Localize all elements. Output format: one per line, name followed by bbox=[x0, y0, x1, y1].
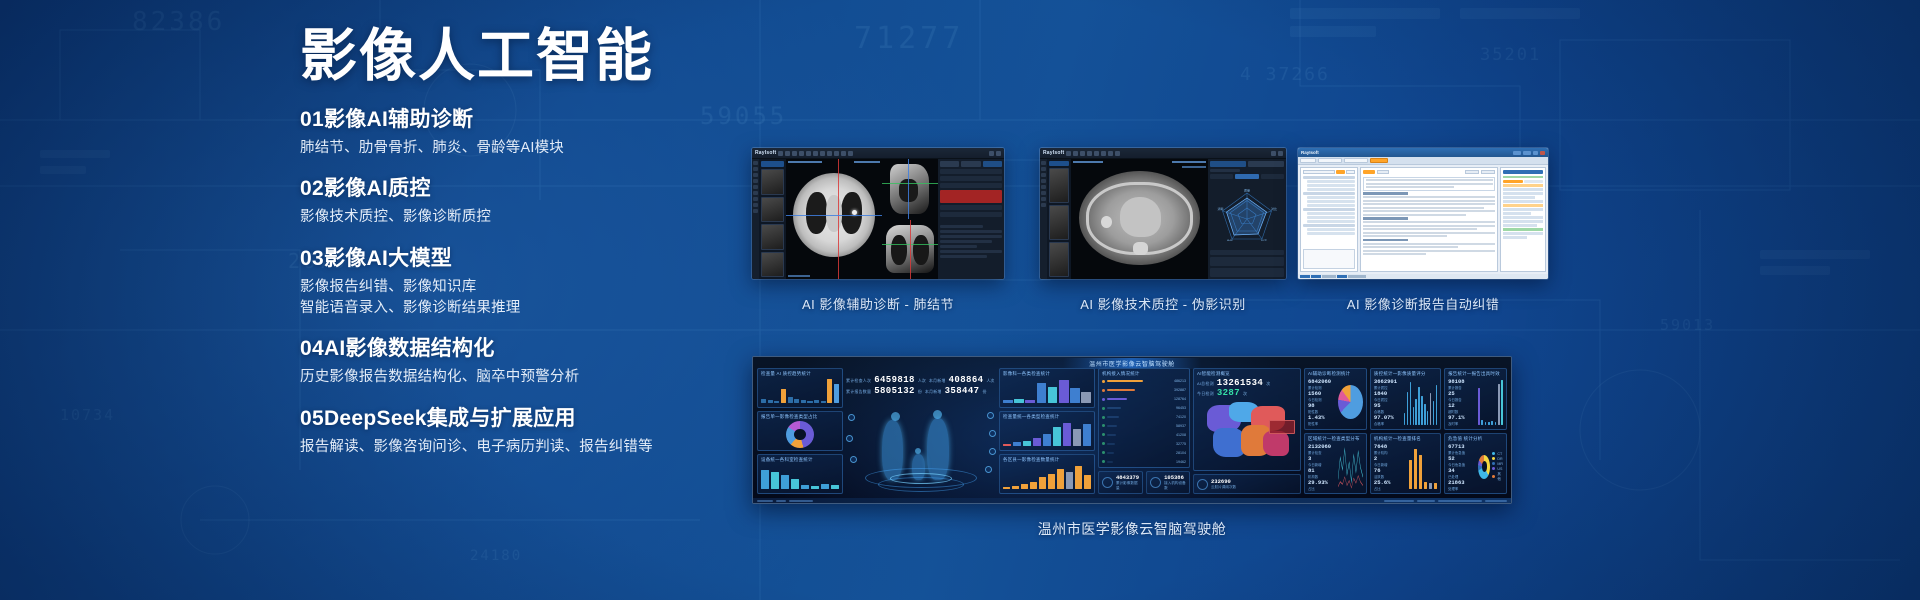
toolbar-icon-annotate[interactable] bbox=[1101, 151, 1106, 156]
bar-chart-report-timeliness bbox=[1478, 378, 1503, 427]
dashboard-column-3: 影像科一各类检查统计 检查量统一各类型检查统计 bbox=[999, 368, 1095, 494]
screenshot-caption-3: AI 影像诊断报告自动纠错 bbox=[1298, 294, 1548, 313]
kpi-label-total-reports: 累计报告数量 bbox=[846, 389, 871, 395]
rail-icon-ruler bbox=[753, 173, 758, 177]
qc-filter-selected[interactable] bbox=[1235, 174, 1258, 179]
screenshot-report-auto-correction[interactable]: RayIsoft bbox=[1298, 148, 1548, 279]
page-title: 影像人工智能 bbox=[300, 28, 720, 85]
toolbar-icon-settings[interactable] bbox=[1271, 151, 1276, 156]
series-tab-active[interactable] bbox=[1049, 161, 1069, 166]
findings-report-button[interactable] bbox=[983, 161, 1002, 167]
dashboard-caption: 温州市医学影像云智脑驾驶舱 bbox=[752, 519, 1512, 539]
kpi-value-total-reports: 5805132 bbox=[874, 386, 915, 396]
finding-row[interactable] bbox=[940, 176, 1002, 181]
qc-radar-chart: 质量对比 噪声伪影清晰 bbox=[1210, 181, 1284, 248]
list-item: 96453 bbox=[1102, 405, 1186, 412]
axial-ct-view[interactable] bbox=[786, 159, 882, 279]
list-item: 128764 bbox=[1102, 396, 1186, 403]
feature-title-04: 04AI影像数据结构化 bbox=[300, 336, 720, 363]
app-brand-label: RayIsoft bbox=[1043, 150, 1064, 156]
card-critical-value-analysis[interactable]: 危急值 统计分析 67713累计危急值 52今日危急值 34已处理 21863处… bbox=[1444, 433, 1507, 495]
ct-axial-slice bbox=[1079, 171, 1200, 265]
toolbar-icon-close[interactable] bbox=[1278, 151, 1283, 156]
kpi-column: 67713累计危急值 52今日危急值 34已处理 21863处理率 bbox=[1448, 443, 1478, 492]
rail-icon-more bbox=[1041, 203, 1046, 207]
kpi-column: 98108累计报告 25今日报告 12超时数 97.1%及时率 bbox=[1448, 378, 1478, 427]
feature-item-02: 02影像AI质控 影像技术质控、影像诊断质控 bbox=[300, 176, 720, 228]
mini-stat-row: 4843379 累计影像数据量 105386 接入机构设备数 bbox=[1098, 471, 1190, 494]
series-thumbnail[interactable] bbox=[1049, 242, 1069, 277]
bar-chart-department bbox=[761, 464, 839, 491]
device-icon bbox=[1150, 477, 1161, 488]
holo-icon-bone[interactable] bbox=[850, 456, 857, 463]
finding-detail-line bbox=[940, 250, 1002, 253]
dashboard-footer bbox=[753, 498, 1511, 503]
dashboard-column-legend: 机构接入情况统计 486213 392887 bbox=[1098, 368, 1190, 494]
toolbar-icon-cursor[interactable] bbox=[1066, 151, 1071, 156]
rail-icon-layer bbox=[1041, 167, 1046, 171]
screenshot-ai-quality-control[interactable]: RayIsoft bbox=[1040, 148, 1286, 279]
finding-row[interactable] bbox=[940, 212, 1002, 217]
list-item: 28104 bbox=[1102, 450, 1186, 457]
lung-icon bbox=[1102, 477, 1113, 488]
series-thumbnail-list[interactable] bbox=[759, 159, 786, 279]
sagittal-ct-view[interactable] bbox=[882, 159, 938, 219]
app-brand-label: RayIsoft bbox=[755, 150, 776, 156]
card-title: 质控统计一影像质量评分 bbox=[1374, 371, 1437, 377]
findings-table-header bbox=[940, 169, 1002, 174]
card-ai-diagnosis-stats[interactable]: AI辅助诊断检测统计 6842060累计检测 1560今日检测 98阳性数 1.… bbox=[1304, 368, 1367, 430]
map-tooltip bbox=[1269, 420, 1295, 434]
toolbar-icon-invert[interactable] bbox=[827, 151, 832, 156]
line-chart-region bbox=[1338, 443, 1363, 492]
bar-chart-qc-score bbox=[1404, 378, 1437, 427]
findings-filter-button[interactable] bbox=[940, 161, 959, 167]
qc-filter-all[interactable] bbox=[1210, 174, 1233, 179]
hologram-family-visualization bbox=[846, 399, 996, 494]
kpi-column: 6842060累计检测 1560今日检测 98阳性数 1.43%阳性率 bbox=[1308, 378, 1338, 427]
report-tab[interactable] bbox=[1344, 158, 1368, 163]
feature-item-04: 04AI影像数据结构化 历史影像报告数据结构化、脑卒中预警分析 bbox=[300, 336, 720, 388]
kpi-value-month-exams: 408864 bbox=[949, 375, 984, 385]
card-region-exam-distribution[interactable]: 区域统计一检查类型分布 2132060累计检查 3今日新增 81机构数 29.9… bbox=[1304, 433, 1367, 495]
legend-entry: MR bbox=[1492, 462, 1503, 466]
finding-row[interactable] bbox=[940, 205, 1002, 210]
kpi-column: 2132060累计检查 3今日新增 81机构数 29.93%占比 bbox=[1308, 443, 1338, 492]
card-district-exam-count[interactable]: 各区县一影像检查数量统计 bbox=[999, 454, 1095, 494]
holo-icon-brain[interactable] bbox=[846, 435, 853, 442]
feature-desc-05: 报告解读、影像咨询问诊、电子病历判读、报告纠错等 bbox=[300, 437, 720, 458]
toolbar-icon-export[interactable] bbox=[1115, 151, 1120, 156]
kpi-column: 3662901累计质控 1840今日质控 95合格数 97.07%合格率 bbox=[1374, 378, 1404, 427]
card-report-timeliness[interactable]: 报告统计一报告出具时效 98108累计报告 25今日报告 12超时数 97.1%… bbox=[1444, 368, 1507, 430]
card-title: AI辅助诊断检测统计 bbox=[1308, 371, 1363, 377]
list-item: 74120 bbox=[1102, 414, 1186, 421]
rail-icon-layer bbox=[753, 167, 758, 171]
kpi-block: 检查量 AI 质控趋势统计 累计检查人次 6459818 人次 本月新增 408… bbox=[846, 368, 996, 396]
pie-chart-ai-diagnosis bbox=[1338, 385, 1363, 419]
toolbar-icon-export[interactable] bbox=[848, 151, 853, 156]
editor-button-save[interactable] bbox=[1377, 170, 1389, 174]
donut-chart-exam-type bbox=[786, 421, 814, 448]
feature-desc-01: 肺结节、肋骨骨折、肺炎、骨龄等AI模块 bbox=[300, 138, 720, 159]
holo-icon-liver[interactable] bbox=[989, 430, 996, 437]
kpi-label-month-reports: 本月新增 bbox=[925, 389, 942, 395]
editor-button-correct[interactable] bbox=[1363, 170, 1375, 174]
qc-tab-score[interactable] bbox=[1248, 161, 1284, 167]
feature-desc-03-line1: 影像报告纠错、影像知识库 bbox=[300, 277, 720, 298]
list-item: 32775 bbox=[1102, 441, 1186, 448]
screenshot-medical-imaging-cloud-cockpit[interactable]: 温州市医学影像云智脑驾驶舱 检查量 AI 质控趋势统计 bbox=[752, 356, 1512, 504]
report-tab-active[interactable] bbox=[1370, 158, 1388, 163]
finding-detail-line bbox=[940, 235, 1002, 238]
bar-chart-qc-trend bbox=[761, 378, 839, 405]
card-qc-trend[interactable]: 检查量 AI 质控趋势统计 bbox=[757, 368, 843, 408]
coronal-ct-view[interactable] bbox=[882, 220, 938, 280]
legend-entry: 其他 bbox=[1492, 472, 1503, 482]
rail-icon-print bbox=[753, 191, 758, 195]
toolbar-icon-rotate[interactable] bbox=[820, 151, 825, 156]
ai-correction-suggestion-panel[interactable] bbox=[1500, 167, 1546, 272]
report-tab-strip[interactable] bbox=[1298, 157, 1548, 165]
kpi-value-month-reports: 358447 bbox=[945, 386, 980, 396]
ai-today-label: 今日检测 bbox=[1197, 391, 1214, 397]
rail-icon-more bbox=[753, 209, 758, 213]
list-item: 19462 bbox=[1102, 458, 1186, 465]
svg-text:59013: 59013 bbox=[1660, 316, 1715, 334]
card-title: 危急值 统计分析 bbox=[1448, 436, 1503, 442]
svg-text:4 37266: 4 37266 bbox=[1240, 64, 1330, 85]
card-imaging-dept-exams[interactable]: 影像科一各类检查统计 bbox=[999, 368, 1095, 408]
rail-icon-mark bbox=[1041, 179, 1046, 183]
kpi-label-total-exams: 累计检查人次 bbox=[846, 378, 871, 384]
card-department-exam[interactable]: 设备统一各科室检查统计 bbox=[757, 454, 843, 494]
list-item: 58937 bbox=[1102, 423, 1186, 430]
rail-icon-series bbox=[1041, 161, 1046, 165]
holo-icon-lung[interactable] bbox=[848, 414, 855, 421]
card-title: 设备统一各科室检查统计 bbox=[761, 457, 839, 463]
screenshot-ai-assisted-diagnosis[interactable]: RayIsoft bbox=[752, 148, 1004, 279]
card-ai-detection-map[interactable]: AI智能检测概览 AI总检测 13261534 次 今日检测 3287 次 bbox=[1193, 368, 1301, 471]
toolbar-icon-3d[interactable] bbox=[841, 151, 846, 156]
series-thumbnail[interactable] bbox=[1049, 168, 1069, 203]
qc-result-row[interactable] bbox=[1210, 257, 1284, 266]
titlebar-icon-minimize[interactable] bbox=[1533, 151, 1538, 155]
ai-total-label: AI总检测 bbox=[1197, 381, 1214, 387]
screenshot-caption-2: AI 影像技术质控 - 伪影识别 bbox=[1040, 294, 1286, 313]
qc-result-row[interactable] bbox=[1210, 250, 1284, 255]
series-tab-active[interactable] bbox=[761, 161, 784, 167]
series-thumbnail[interactable] bbox=[761, 224, 784, 250]
legend-entry: DR bbox=[1492, 457, 1503, 461]
rail-icon-mark bbox=[753, 179, 758, 183]
patient-info-block bbox=[1363, 177, 1495, 191]
toolbar-icon-zoom[interactable] bbox=[1080, 151, 1085, 156]
qc-analysis-panel[interactable]: 质量对比 噪声伪影清晰 bbox=[1208, 159, 1286, 279]
findings-sort-button[interactable] bbox=[961, 161, 980, 167]
editor-button-export[interactable] bbox=[1481, 170, 1495, 174]
feature-desc-03-line2: 智能语音录入、影像诊断结果推理 bbox=[300, 298, 720, 319]
suggestion-ignore-button[interactable] bbox=[1524, 180, 1544, 183]
finding-row-highlighted[interactable] bbox=[940, 190, 1002, 203]
card-title: 机构统计一检查量排名 bbox=[1374, 436, 1437, 442]
ai-total-value: 13261534 bbox=[1217, 378, 1263, 388]
region-map-wenzhou[interactable] bbox=[1197, 399, 1297, 468]
svg-text:35201: 35201 bbox=[1480, 45, 1541, 65]
viewer-left-rail[interactable] bbox=[752, 159, 759, 279]
rail-icon-ai bbox=[753, 185, 758, 189]
qc-filter-other[interactable] bbox=[1261, 174, 1284, 179]
svg-text:清晰: 清晰 bbox=[1217, 206, 1223, 211]
report-template-tree[interactable] bbox=[1300, 167, 1358, 272]
series-thumbnail-list[interactable] bbox=[1047, 159, 1071, 279]
qc-result-row[interactable] bbox=[1210, 268, 1284, 277]
viewer-toolbar[interactable]: RayIsoft bbox=[752, 148, 1004, 159]
bar-chart-imaging-dept bbox=[1003, 378, 1091, 405]
card-title: 机构接入情况统计 bbox=[1102, 371, 1186, 377]
toolbar-icon-window[interactable] bbox=[1087, 151, 1092, 156]
card-institution-access[interactable]: 机构接入情况统计 486213 392887 bbox=[1098, 368, 1190, 468]
toolbar-icon-settings[interactable] bbox=[989, 151, 994, 156]
svg-text:质量: 质量 bbox=[1244, 189, 1250, 193]
card-title: 报告单一影像检查类型占比 bbox=[761, 414, 839, 420]
finding-detail-line bbox=[940, 240, 992, 243]
legend-entry: US bbox=[1492, 467, 1503, 471]
series-thumbnail[interactable] bbox=[761, 197, 784, 223]
mini-stat[interactable]: 105386 接入机构设备数 bbox=[1146, 471, 1190, 494]
bar-line-chart-district bbox=[1003, 464, 1091, 491]
report-tab[interactable] bbox=[1300, 158, 1316, 163]
legend-entry: CT bbox=[1492, 452, 1503, 456]
card-title: AI智能检测概览 bbox=[1197, 371, 1297, 377]
toolbar-icon-window[interactable] bbox=[799, 151, 804, 156]
svg-text:82386: 82386 bbox=[132, 7, 225, 37]
toolbar-icon-pan[interactable] bbox=[785, 151, 790, 156]
holo-icon-breast[interactable] bbox=[985, 466, 992, 473]
screenshot-caption-1: AI 影像辅助诊断 - 肺结节 bbox=[752, 294, 1004, 313]
bar-chart-exam-type bbox=[1003, 421, 1091, 448]
card-title: 检查量 AI 质控趋势统计 bbox=[761, 371, 839, 377]
cloud-film-icon bbox=[1197, 479, 1208, 490]
toolbar-icon-pan[interactable] bbox=[1073, 151, 1078, 156]
card-qc-score[interactable]: 质控统计一影像质量评分 3662901累计质控 1840今日质控 95合格数 9… bbox=[1370, 368, 1441, 430]
feature-list-column: 影像人工智能 01影像AI辅助诊断 肺结节、肋骨骨折、肺炎、骨龄等AI模块 02… bbox=[300, 28, 720, 475]
rail-icon-save bbox=[1041, 197, 1046, 201]
series-thumbnail[interactable] bbox=[761, 252, 784, 278]
finding-detail-line bbox=[940, 225, 983, 228]
list-item: 41208 bbox=[1102, 432, 1186, 439]
card-title: 区域统计一检查类型分布 bbox=[1308, 436, 1363, 442]
editor-button-print[interactable] bbox=[1465, 170, 1479, 174]
rail-icon-info bbox=[1041, 191, 1046, 195]
card-exam-type-stats[interactable]: 检查量统一各类型检查统计 bbox=[999, 411, 1095, 451]
feature-item-03: 03影像AI大模型 影像报告纠错、影像知识库 智能语音录入、影像诊断结果推理 bbox=[300, 246, 720, 320]
toolbar-icon-close[interactable] bbox=[996, 151, 1001, 156]
suggestion-panel-header bbox=[1503, 170, 1543, 174]
finding-row[interactable] bbox=[940, 183, 1002, 188]
dashboard-column-center: 检查量 AI 质控趋势统计 累计检查人次 6459818 人次 本月新增 408… bbox=[846, 368, 996, 494]
list-item: 392887 bbox=[1102, 387, 1186, 394]
ai-today-value: 3287 bbox=[1217, 388, 1240, 398]
feature-title-05: 05DeepSeek集成与扩展应用 bbox=[300, 406, 720, 433]
toolbar-icon-measure[interactable] bbox=[1094, 151, 1099, 156]
card-institution-ranking[interactable]: 机构统计一检查量排名 7648累计机构 2今日新增 76活跃数 25.6%占比 bbox=[1370, 433, 1441, 495]
rail-icon-save bbox=[753, 203, 758, 207]
feature-title-01: 01影像AI辅助诊断 bbox=[300, 107, 720, 134]
holo-icon-heart[interactable] bbox=[987, 412, 994, 419]
report-document-editor[interactable] bbox=[1360, 167, 1498, 272]
bar-chart-institution bbox=[1404, 443, 1437, 492]
dashboard-column-right: AI辅助诊断检测统计 6842060累计检测 1560今日检测 98阳性数 1.… bbox=[1304, 368, 1507, 494]
toolbar-icon-measure[interactable] bbox=[806, 151, 811, 156]
legend-list: 486213 392887 128764 bbox=[1102, 378, 1186, 465]
toolbar-icon-layout[interactable] bbox=[834, 151, 839, 156]
feature-desc-04: 历史影像报告数据结构化、脑卒中预警分析 bbox=[300, 367, 720, 388]
card-title: 报告统计一报告出具时效 bbox=[1448, 371, 1503, 377]
rail-icon-series bbox=[753, 161, 758, 165]
toolbar-icon-layout[interactable] bbox=[1108, 151, 1113, 156]
finding-detail-line bbox=[940, 245, 977, 248]
qc-tab-artifact[interactable] bbox=[1210, 161, 1246, 167]
dashboard-column-left: 检查量 AI 质控趋势统计 报告单一影像检查类型占比 设备统一各科 bbox=[757, 368, 843, 494]
mini-stat[interactable]: 232690 云胶片调阅次数 bbox=[1193, 474, 1301, 494]
feature-desc-02: 影像技术质控、影像诊断质控 bbox=[300, 207, 720, 228]
rail-icon-ruler bbox=[1041, 173, 1046, 177]
titlebar-icon-settings[interactable] bbox=[1523, 151, 1531, 155]
card-title: 影像科一各类检查统计 bbox=[1003, 371, 1091, 377]
viewer-left-rail[interactable] bbox=[1040, 159, 1047, 279]
card-title: 各区县一影像检查数量统计 bbox=[1003, 457, 1091, 463]
dashboard-column-map: AI智能检测概览 AI总检测 13261534 次 今日检测 3287 次 bbox=[1193, 368, 1301, 494]
card-exam-type-ratio[interactable]: 报告单一影像检查类型占比 bbox=[757, 411, 843, 451]
titlebar-icon-user[interactable] bbox=[1513, 151, 1521, 155]
svg-text:对比: 对比 bbox=[1271, 206, 1277, 211]
mini-stat[interactable]: 4843379 累计影像数据量 bbox=[1098, 471, 1143, 494]
svg-text:71277: 71277 bbox=[854, 21, 964, 56]
donut-chart-critical-value bbox=[1478, 455, 1490, 479]
rail-icon-ai bbox=[1041, 185, 1046, 189]
feature-title-03: 03影像AI大模型 bbox=[300, 246, 720, 273]
finding-detail-line bbox=[940, 230, 1002, 233]
toolbar-icon-zoom[interactable] bbox=[792, 151, 797, 156]
report-tab[interactable] bbox=[1318, 158, 1342, 163]
suggestion-accept-button[interactable] bbox=[1503, 180, 1523, 183]
feature-title-02: 02影像AI质控 bbox=[300, 176, 720, 203]
report-app-titlebar[interactable]: RayIsoft bbox=[1298, 148, 1548, 157]
report-statusbar bbox=[1298, 274, 1548, 279]
app-brand-label: RayIsoft bbox=[1301, 150, 1319, 155]
ai-findings-panel[interactable] bbox=[938, 159, 1004, 279]
series-thumbnail[interactable] bbox=[761, 169, 784, 195]
kpi-value-total-exams: 6459818 bbox=[874, 375, 915, 385]
finding-detail-line bbox=[940, 255, 987, 258]
titlebar-icon-close[interactable] bbox=[1540, 151, 1545, 155]
axial-ct-view[interactable] bbox=[1071, 159, 1208, 279]
list-item: 486213 bbox=[1102, 378, 1186, 385]
kpi-column: 7648累计机构 2今日新增 76活跃数 25.6%占比 bbox=[1374, 443, 1404, 492]
feature-item-01: 01影像AI辅助诊断 肺结节、肋骨骨折、肺炎、骨龄等AI模块 bbox=[300, 107, 720, 159]
viewer-toolbar[interactable]: RayIsoft bbox=[1040, 148, 1286, 159]
mpr-views[interactable] bbox=[882, 159, 938, 279]
mini-stat-row-2: 232690 云胶片调阅次数 bbox=[1193, 474, 1301, 494]
series-thumbnail[interactable] bbox=[1049, 205, 1069, 240]
dashboard-header: 温州市医学影像云智脑驾驶舱 bbox=[753, 357, 1511, 368]
qc-section-label bbox=[1210, 169, 1240, 172]
feature-item-05: 05DeepSeek集成与扩展应用 报告解读、影像咨询问诊、电子病历判读、报告纠… bbox=[300, 406, 720, 458]
toolbar-icon-cursor[interactable] bbox=[778, 151, 783, 156]
svg-text:10734: 10734 bbox=[60, 406, 115, 424]
kpi-label-month-exams: 本月新增 bbox=[929, 378, 946, 384]
rail-icon-info bbox=[753, 197, 758, 201]
card-title: 检查量统一各类型检查统计 bbox=[1003, 414, 1091, 420]
toolbar-icon-annotate[interactable] bbox=[813, 151, 818, 156]
svg-text:24180: 24180 bbox=[470, 548, 522, 564]
holo-icon-kidney[interactable] bbox=[989, 448, 996, 455]
